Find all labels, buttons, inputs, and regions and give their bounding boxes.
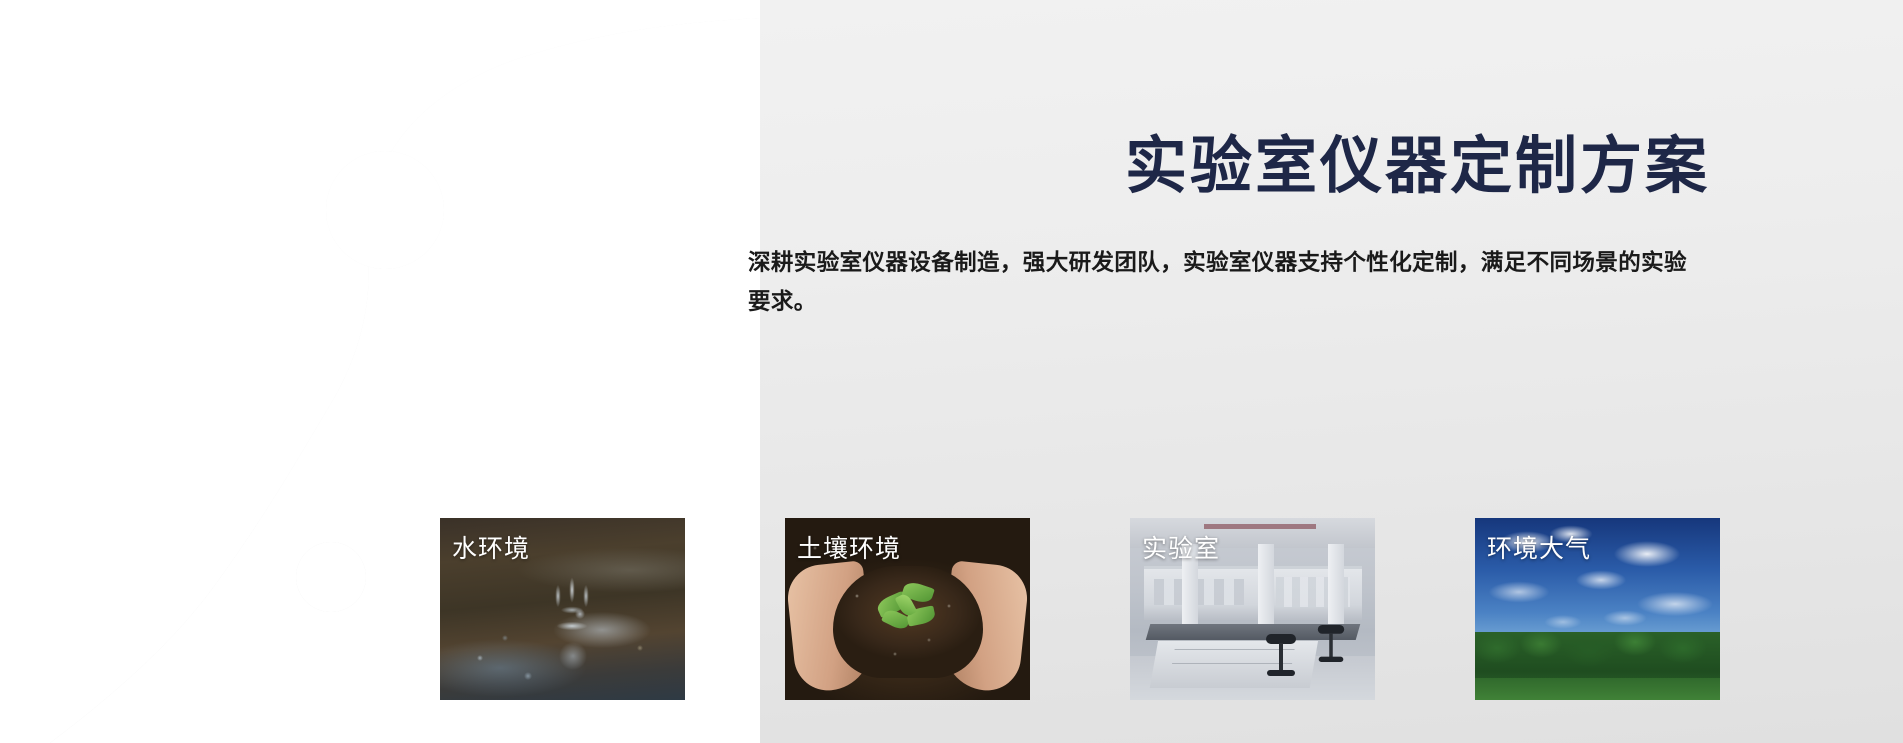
lab-column-shape [1328,544,1344,632]
splash-crown-shape [544,576,600,644]
splash-reflection-shape [550,636,596,680]
hero-banner: 实验室仪器定制方案 深耕实验室仪器设备制造，强大研发团队，实验室仪器支持个性化定… [0,0,1903,743]
category-card-label: 水环境 [452,534,530,564]
decor-circle-upper [326,151,444,269]
decor-circle-lower [296,542,366,612]
category-card-label: 土壤环境 [797,534,901,564]
treeline-shape [1475,632,1720,700]
category-card-soil[interactable]: 土壤环境 [785,518,1030,700]
lab-stool-shape [1266,634,1296,684]
category-card-water[interactable]: 水环境 [440,518,685,700]
category-card-label: 环境大气 [1487,534,1591,564]
category-card-list: 水环境 土壤环境 [440,518,1720,700]
headline-block: 实验室仪器定制方案 深耕实验室仪器设备制造，强大研发团队，实验室仪器支持个性化定… [748,130,1758,321]
category-card-label: 实验室 [1142,534,1220,564]
page-title: 实验室仪器定制方案 [748,130,1758,203]
page-subtitle: 深耕实验室仪器设备制造，强大研发团队，实验室仪器支持个性化定制，满足不同场景的实… [748,243,1698,321]
seedling-shape [873,580,943,636]
category-card-laboratory[interactable]: 实验室 [1130,518,1375,700]
lab-column-shape [1258,544,1274,632]
lab-stool-shape [1318,625,1344,669]
category-card-atmosphere[interactable]: 环境大气 [1475,518,1720,700]
